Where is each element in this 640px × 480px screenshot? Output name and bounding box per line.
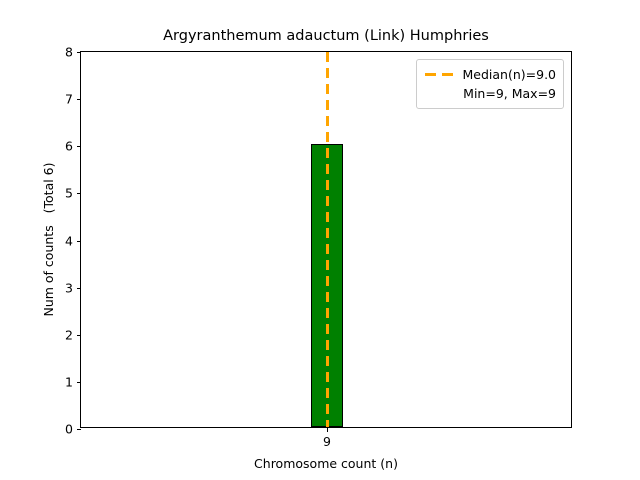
y-tick-label: 4 bbox=[65, 233, 73, 248]
y-tick-mark bbox=[77, 288, 82, 289]
dashed-line-icon bbox=[424, 69, 454, 81]
y-tick-mark bbox=[77, 193, 82, 194]
page-title: Argyranthemum adauctum (Link) Humphries bbox=[80, 27, 572, 45]
legend-label-median: Median(n)=9.0 bbox=[463, 67, 557, 82]
x-tick-label: 9 bbox=[323, 434, 331, 449]
y-tick-label: 7 bbox=[65, 92, 73, 107]
legend-label-minmax: Min=9, Max=9 bbox=[463, 86, 556, 101]
y-tick-mark bbox=[77, 146, 82, 147]
y-tick-label: 2 bbox=[65, 327, 73, 342]
y-axis-label: Num of counts (Total 6) bbox=[36, 51, 62, 428]
x-tick-mark bbox=[327, 427, 328, 432]
chart-figure: Argyranthemum adauctum (Link) Humphries … bbox=[0, 0, 640, 480]
legend-item-median: Median(n)=9.0 bbox=[424, 65, 557, 84]
y-tick-label: 6 bbox=[65, 139, 73, 154]
plot-area: 0 1 2 3 4 5 6 bbox=[80, 51, 572, 428]
y-tick-mark bbox=[77, 429, 82, 430]
y-tick-label: 0 bbox=[65, 422, 73, 437]
y-tick-mark bbox=[77, 52, 82, 53]
y-tick-label: 5 bbox=[65, 186, 73, 201]
y-tick-label: 1 bbox=[65, 374, 73, 389]
y-tick-mark bbox=[77, 241, 82, 242]
y-tick-mark bbox=[77, 99, 82, 100]
chart-legend: Median(n)=9.0 Min=9, Max=9 bbox=[416, 59, 565, 109]
y-tick-mark bbox=[77, 335, 82, 336]
median-line bbox=[326, 52, 329, 427]
y-tick-label: 3 bbox=[65, 280, 73, 295]
y-tick-mark bbox=[77, 382, 82, 383]
legend-item-minmax: Min=9, Max=9 bbox=[424, 84, 557, 103]
y-tick-label: 8 bbox=[65, 45, 73, 60]
x-axis-label: Chromosome count (n) bbox=[80, 456, 572, 471]
